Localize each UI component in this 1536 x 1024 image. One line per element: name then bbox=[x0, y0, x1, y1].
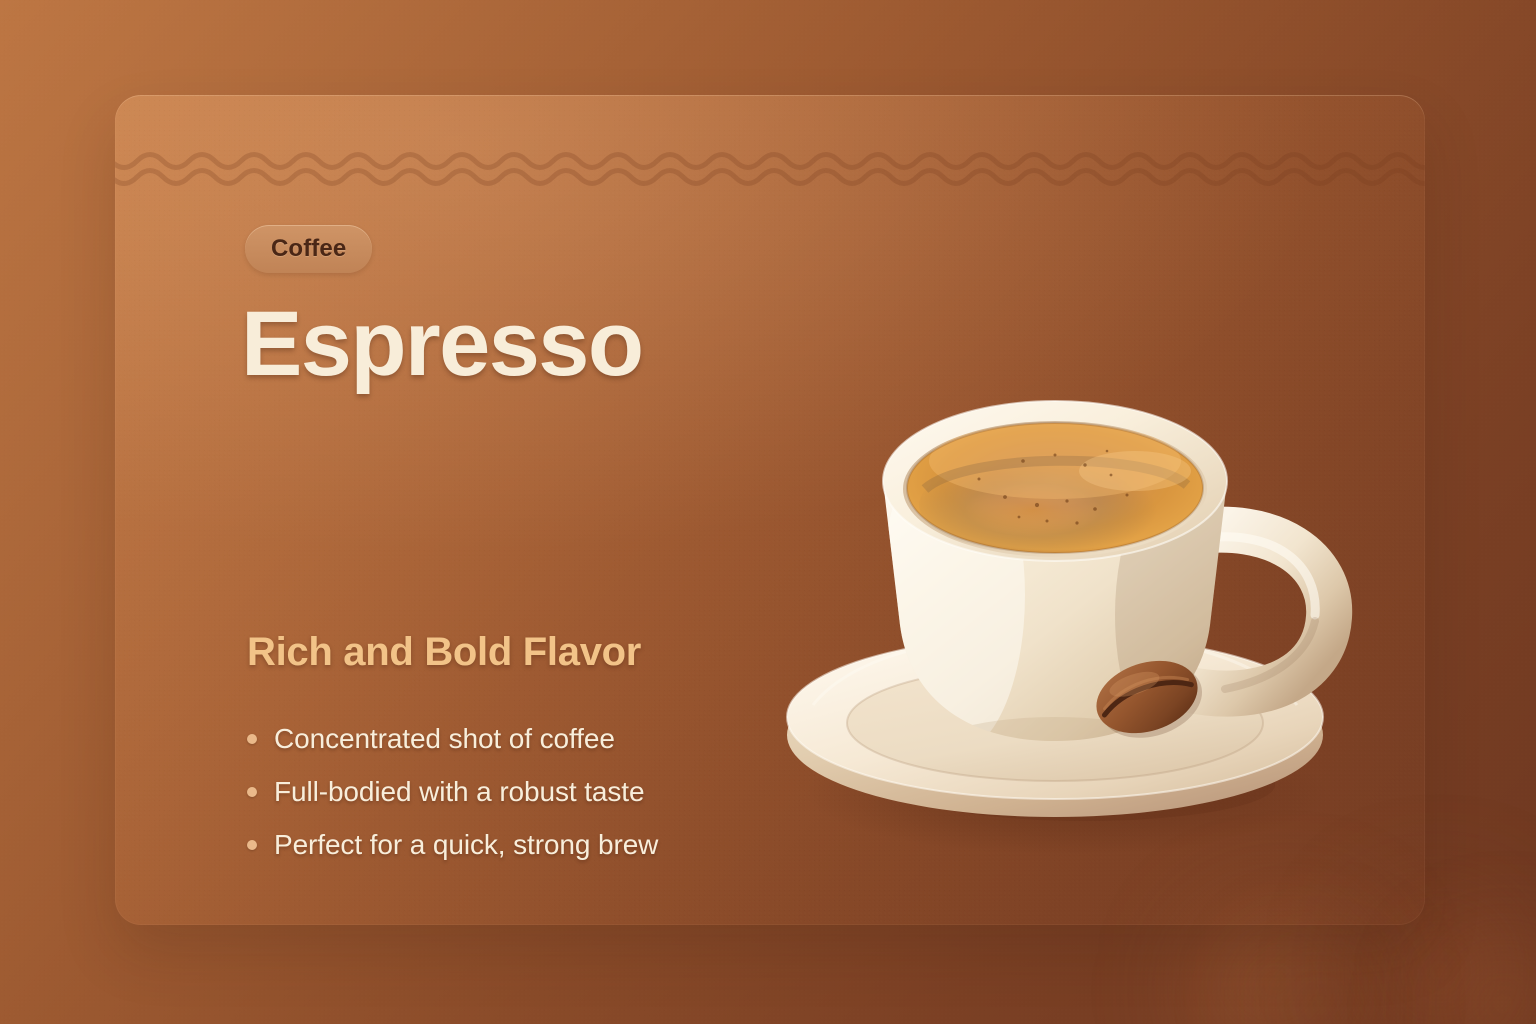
list-item: Concentrated shot of coffee bbox=[247, 713, 658, 765]
cup-handle bbox=[1185, 530, 1329, 694]
espresso-product-card: Coffee Espresso Rich and Bold Flavor Con… bbox=[115, 95, 1425, 925]
background-bokeh-shape bbox=[1430, 935, 1536, 1024]
espresso-crema bbox=[907, 423, 1203, 553]
feature-list: Concentrated shot of coffee Full-bodied … bbox=[247, 713, 658, 872]
crema-bubbles bbox=[978, 450, 1129, 525]
cup-rim bbox=[883, 401, 1227, 561]
list-item: Full-bodied with a robust taste bbox=[247, 766, 658, 818]
saucer-well bbox=[847, 665, 1263, 781]
list-item-label: Concentrated shot of coffee bbox=[274, 723, 615, 755]
bullet-dot-icon bbox=[247, 787, 257, 797]
page-title: Espresso bbox=[241, 298, 642, 390]
list-item: Perfect for a quick, strong brew bbox=[247, 819, 658, 871]
bullet-dot-icon bbox=[247, 840, 257, 850]
bullet-dot-icon bbox=[247, 734, 257, 744]
list-item-label: Perfect for a quick, strong brew bbox=[274, 829, 658, 861]
list-item-label: Full-bodied with a robust taste bbox=[274, 776, 644, 808]
category-badge-label: Coffee bbox=[271, 235, 346, 263]
cup bbox=[881, 401, 1255, 813]
coffee-bean bbox=[1087, 648, 1212, 751]
cup-inner-wall bbox=[903, 421, 1207, 557]
card-text-column: Coffee Espresso Rich and Bold Flavor Con… bbox=[245, 95, 885, 925]
category-badge[interactable]: Coffee bbox=[245, 225, 372, 273]
drop-shadow-core bbox=[895, 749, 1275, 821]
feature-heading: Rich and Bold Flavor bbox=[247, 630, 641, 675]
screen: Coffee Espresso Rich and Bold Flavor Con… bbox=[0, 0, 1536, 1024]
background-bokeh-shape bbox=[1245, 940, 1395, 1024]
